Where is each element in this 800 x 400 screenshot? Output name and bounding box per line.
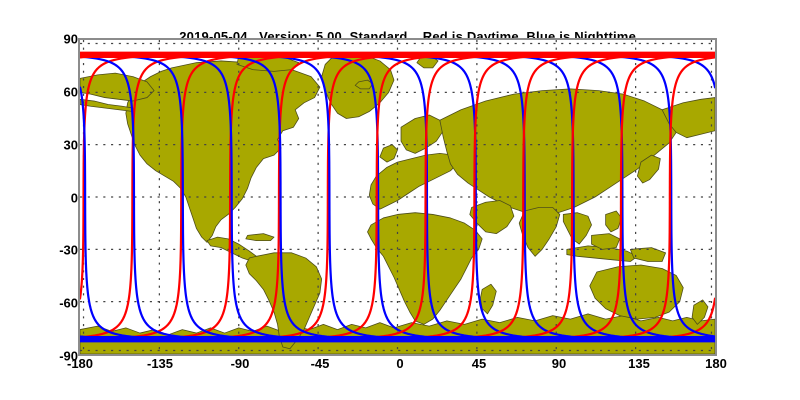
ytick-60: 60	[64, 86, 78, 99]
xtick-90: 90	[552, 357, 566, 371]
ytick-30: 30	[64, 139, 78, 152]
xtick-m45: -45	[311, 357, 330, 371]
xtick-m90: -90	[231, 357, 250, 371]
xtick-m135: -135	[147, 357, 173, 371]
world-ground-track-plot: 2019-05-04 Version: 5.00 Standard Red is…	[0, 0, 800, 400]
map-canvas	[80, 40, 715, 354]
xtick-0: 0	[396, 357, 403, 371]
plot-frame	[78, 38, 717, 356]
ytick-90: 90	[64, 33, 78, 46]
xtick-m180: -180	[67, 357, 93, 371]
xtick-135: 135	[628, 357, 650, 371]
xtick-180: 180	[705, 357, 727, 371]
ytick-m30: -30	[59, 244, 78, 257]
ytick-m60: -60	[59, 297, 78, 310]
xtick-45: 45	[472, 357, 486, 371]
ytick-0: 0	[71, 192, 78, 205]
map-svg	[80, 40, 715, 354]
